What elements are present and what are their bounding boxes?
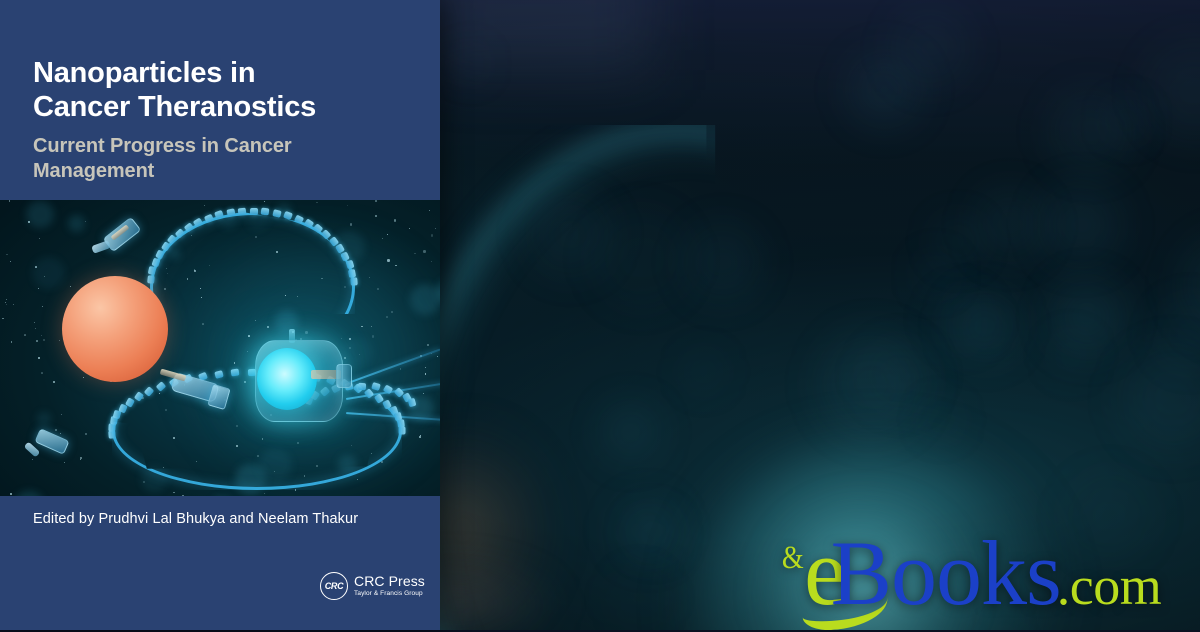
star-dot	[9, 200, 11, 202]
star-dot	[5, 302, 6, 303]
ebooks-com-watermark: & e Books .com	[782, 524, 1155, 620]
crc-press-imprint: Taylor & Francis Group	[354, 591, 425, 598]
star-dot	[305, 331, 307, 333]
star-dot	[297, 296, 298, 297]
tube-segment	[261, 208, 270, 216]
ebooks-wordmark-row: & e Books .com	[782, 524, 1155, 620]
star-dot	[41, 335, 42, 336]
star-dot	[285, 295, 286, 296]
star-dot	[194, 270, 196, 272]
tube-segment	[147, 275, 155, 284]
star-dot	[423, 250, 425, 252]
book-authors: Edited by Prudhvi Lal Bhukya and Neelam …	[33, 511, 423, 527]
star-dot	[182, 495, 184, 496]
bokeh-dot	[410, 284, 440, 315]
star-dot	[59, 340, 60, 341]
star-dot	[2, 318, 4, 320]
star-dot	[6, 254, 7, 255]
star-dot	[187, 278, 189, 280]
bokeh-dot	[14, 491, 43, 496]
crc-press-name: CRC Press	[354, 574, 425, 588]
star-dot	[10, 261, 12, 263]
star-dot	[316, 202, 317, 203]
book-subtitle: Current Progress in Cancer Management	[33, 134, 403, 183]
star-dot	[425, 367, 426, 368]
star-dot	[60, 433, 61, 434]
tube-segment	[250, 207, 258, 214]
book-title: Nanoparticles in Cancer Theranostics	[33, 57, 418, 125]
star-dot	[83, 377, 84, 378]
star-dot	[347, 205, 348, 206]
bokeh-dot	[32, 257, 64, 289]
star-dot	[53, 381, 55, 383]
book-title-line-1: Nanoparticles in	[33, 57, 418, 91]
star-dot	[32, 459, 33, 460]
ebooks-books-word: Books	[831, 527, 1061, 619]
star-dot	[423, 393, 424, 394]
star-dot	[13, 304, 14, 305]
star-dot	[409, 228, 410, 229]
crc-circle-mark-icon: CRC	[320, 572, 348, 600]
bokeh-dot	[37, 412, 51, 426]
star-dot	[24, 334, 26, 336]
star-dot	[34, 322, 35, 323]
star-dot	[38, 288, 39, 289]
star-dot	[196, 461, 197, 462]
star-dot	[429, 210, 430, 211]
star-dot	[427, 344, 429, 346]
book-cover[interactable]: Nanoparticles in Cancer Theranostics Cur…	[0, 0, 440, 630]
cancer-cell-icon	[62, 276, 168, 382]
ebooks-ampersand-flourish-icon: &	[782, 542, 804, 575]
star-dot	[351, 445, 352, 446]
star-dot	[361, 326, 362, 327]
star-dot	[11, 341, 13, 343]
star-dot	[437, 356, 438, 357]
star-dot	[61, 414, 62, 415]
star-dot	[39, 238, 41, 240]
star-dot	[41, 372, 43, 374]
star-dot	[165, 409, 167, 411]
star-dot	[264, 201, 265, 202]
tube-segment	[238, 207, 247, 215]
star-dot	[55, 429, 57, 431]
star-dot	[357, 479, 358, 480]
star-dot	[420, 435, 421, 436]
book-subtitle-line-2: Management	[33, 159, 403, 184]
star-dot	[264, 493, 265, 494]
star-dot	[435, 228, 436, 229]
book-subtitle-line-1: Current Progress in Cancer	[33, 134, 403, 159]
star-dot	[255, 320, 256, 321]
crc-press-logo: CRC CRC Press Taylor & Francis Group	[320, 572, 425, 600]
star-dot	[204, 205, 205, 206]
crc-press-wordmark: CRC Press Taylor & Francis Group	[354, 574, 425, 598]
star-dot	[276, 251, 278, 253]
book-title-line-2: Cancer Theranostics	[33, 91, 418, 125]
star-dot	[387, 259, 389, 261]
star-dot	[382, 238, 383, 239]
star-dot	[386, 316, 388, 318]
nanoparticle-capsule-icon	[255, 340, 343, 422]
star-dot	[248, 335, 250, 337]
star-dot	[236, 445, 238, 447]
capsule-glow-core-icon	[257, 348, 317, 410]
star-dot	[201, 297, 202, 298]
star-dot	[35, 328, 36, 329]
star-dot	[85, 433, 87, 435]
star-dot	[38, 357, 40, 359]
star-dot	[6, 299, 7, 300]
ebooks-dot-com-suffix: .com	[1057, 559, 1161, 613]
star-dot	[70, 286, 71, 287]
star-dot	[372, 335, 374, 337]
star-dot	[36, 340, 38, 342]
star-dot	[10, 493, 12, 495]
bokeh-dot	[26, 201, 54, 229]
tube-segment	[214, 370, 224, 379]
star-dot	[64, 462, 65, 463]
star-dot	[391, 311, 393, 313]
tube-segment	[358, 382, 366, 389]
star-dot	[159, 393, 160, 394]
star-dot	[244, 381, 246, 383]
capsule-cap-icon	[336, 364, 352, 388]
star-dot	[173, 492, 174, 493]
star-dot	[6, 304, 7, 305]
star-dot	[375, 200, 377, 202]
star-dot	[350, 223, 352, 225]
bokeh-dot	[68, 215, 85, 232]
star-dot	[200, 288, 201, 289]
star-dot	[236, 425, 238, 427]
star-dot	[387, 234, 388, 235]
tube-segment	[399, 426, 406, 434]
star-dot	[257, 455, 259, 457]
star-dot	[419, 436, 421, 438]
star-dot	[42, 306, 43, 307]
star-dot	[375, 215, 377, 217]
star-dot	[369, 277, 370, 278]
tube-segment	[272, 209, 281, 218]
star-dot	[394, 219, 396, 221]
star-dot	[262, 438, 264, 440]
star-dot	[43, 339, 45, 341]
tube-segment	[350, 277, 358, 285]
